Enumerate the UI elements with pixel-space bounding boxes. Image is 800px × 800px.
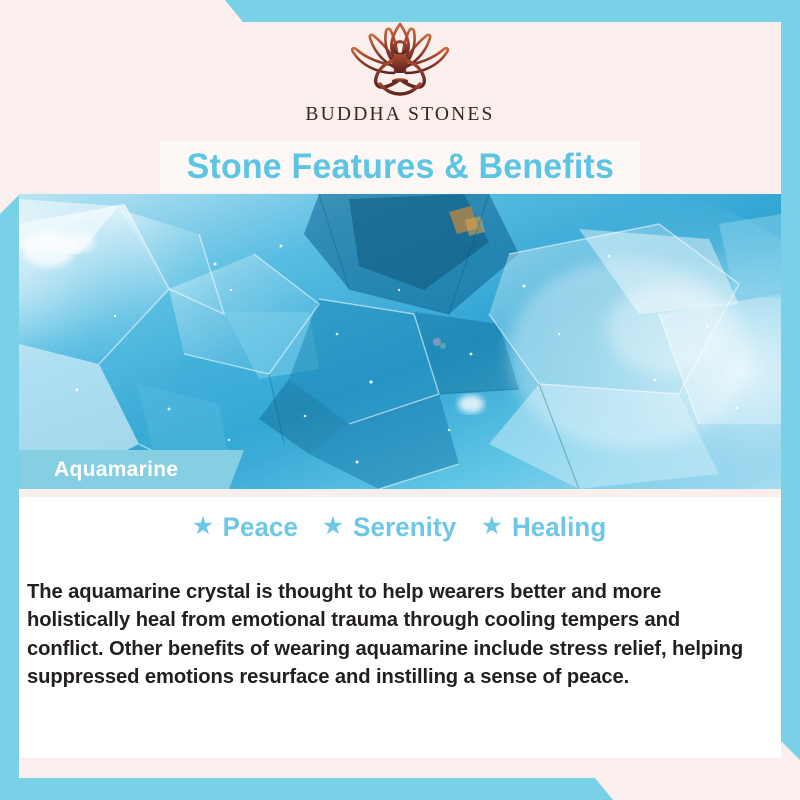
feature-label-healing: Healing (512, 512, 606, 543)
star-icon: ★ (481, 514, 503, 539)
brand-logo: BUDDHA STONES (305, 18, 494, 126)
page-title: Stone Features & Benefits (186, 147, 613, 187)
aquamarine-crystal-photo (19, 194, 781, 489)
feature-item-serenity: ★ Serenity (322, 512, 459, 543)
decor-bottom-left-bar (0, 778, 800, 800)
features-row: ★ Peace ★ Serenity ★ Healing (19, 512, 781, 543)
description-paragraph: The aquamarine crystal is thought to hel… (27, 578, 756, 692)
poster-canvas: BUDDHA STONES Stone Features & Benefits (0, 0, 800, 800)
feature-item-peace: ★ Peace (192, 512, 300, 543)
feature-label-serenity: Serenity (353, 512, 456, 543)
lotus-meditation-icon (336, 18, 464, 100)
stone-name: Aquamarine (54, 458, 178, 482)
star-icon: ★ (192, 514, 214, 539)
brand-name: BUDDHA STONES (305, 104, 494, 126)
feature-item-healing: ★ Healing (481, 512, 609, 543)
title-banner: Stone Features & Benefits (160, 141, 640, 193)
brand-header: BUDDHA STONES (0, 0, 800, 145)
feature-label-peace: Peace (223, 512, 298, 543)
star-icon: ★ (322, 514, 344, 539)
decor-left-stripe (0, 195, 19, 800)
stone-label-banner: Aquamarine (19, 450, 244, 489)
